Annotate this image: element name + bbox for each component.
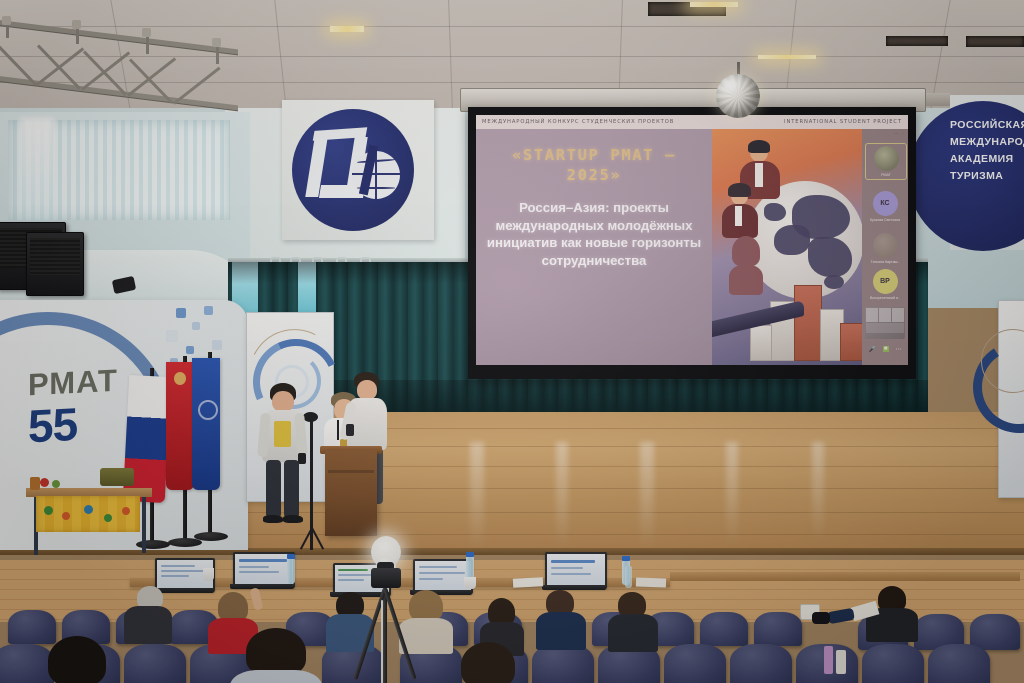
seat[interactable]	[8, 610, 56, 644]
flag-blue-organization	[192, 358, 220, 490]
paper-stack	[636, 577, 666, 587]
tripod-leg	[383, 588, 387, 683]
participant-name: Воскресенский и..	[865, 296, 905, 300]
remote-clicker	[298, 453, 306, 464]
slide-header-ru: МЕЖДУНАРОДНЫЙ КОНКУРС СТУДЕНЧЕСКИХ ПРОЕК…	[482, 119, 674, 125]
bottle-cap	[622, 556, 630, 561]
participant-tile-active[interactable]: РМАТ	[865, 143, 907, 180]
head	[272, 391, 294, 412]
table-leg	[142, 497, 146, 553]
participant-name: Татьяна Карташ..	[865, 260, 905, 264]
souvenir-jar	[30, 477, 40, 490]
seat[interactable]	[0, 644, 54, 683]
ceiling-opening	[966, 36, 1024, 47]
cup	[836, 650, 846, 674]
ceiling-light	[758, 55, 816, 59]
window-controls[interactable]: — ▫	[894, 131, 905, 137]
auditorium-photo: РОССИЙСКАЯ МЕЖДУНАРОДНАЯ АКАДЕМИЯ ТУРИЗМ…	[0, 0, 1024, 683]
flag-emblem	[198, 400, 218, 420]
participant-name: Кускова Светлана	[865, 218, 905, 222]
slide-header: МЕЖДУНАРОДНЫЙ КОНКУРС СТУДЕНЧЕСКИХ ПРОЕК…	[476, 115, 908, 129]
participant-tile[interactable]: КС Кускова Светлана	[865, 191, 905, 222]
camera-tripod	[355, 540, 415, 683]
water-bottle	[287, 558, 295, 584]
seat[interactable]	[700, 612, 748, 646]
disco-ball-glint	[724, 80, 737, 90]
seat[interactable]	[970, 614, 1020, 650]
window-glare	[20, 118, 54, 223]
audience-seating	[0, 588, 1024, 683]
tripod-leg	[383, 587, 416, 680]
camera-body	[371, 568, 401, 588]
seat[interactable]	[124, 644, 186, 683]
jury-table-right	[670, 572, 1020, 581]
seat[interactable]	[928, 644, 990, 683]
academy-line-3: АКАДЕМИЯ	[950, 151, 1024, 168]
lighting-truss	[0, 18, 238, 128]
seat[interactable]	[730, 644, 792, 683]
embroidered-tablecloth	[36, 496, 140, 532]
bottle-cap	[466, 552, 474, 557]
ceiling-opening	[886, 36, 948, 46]
cup	[203, 568, 214, 581]
flag-emblem	[174, 372, 186, 385]
pmat-years: 55	[28, 395, 118, 454]
video-call-sidebar[interactable]: — ▫ РМАТ КС Кускова Светлана Татьяна Кар…	[862, 129, 908, 365]
thermos	[824, 646, 833, 674]
academy-line-1: РОССИЙСКАЯ	[950, 117, 1024, 134]
seat[interactable]	[664, 644, 726, 683]
participant-thumbnail-grid[interactable]	[865, 307, 905, 339]
ceiling-light	[690, 2, 738, 7]
more-icon[interactable]: ⋯	[895, 346, 901, 353]
podium-shelf	[328, 470, 374, 473]
leg	[266, 460, 281, 518]
institute-logo-sign	[282, 100, 434, 240]
shoe	[812, 612, 830, 624]
projected-slide: МЕЖДУНАРОДНЫЙ КОНКУРС СТУДЕНЧЕСКИХ ПРОЕК…	[476, 115, 908, 365]
academy-banner: РОССИЙСКАЯ МЕЖДУНАРОДНАЯ АКАДЕМИЯ ТУРИЗМ…	[950, 95, 1024, 250]
souvenir-item	[52, 480, 60, 488]
logo-circle	[292, 109, 414, 231]
shoe	[283, 515, 303, 523]
slide-illustration	[712, 129, 862, 365]
participant-tile[interactable]: ВР Воскресенский и..	[865, 269, 905, 300]
loudspeaker	[26, 232, 84, 296]
shirt-print	[274, 421, 291, 447]
souvenir-display	[100, 468, 134, 486]
pmat-banner-text: РМАТ 55 лет	[28, 365, 118, 451]
stage-rollup-right	[998, 300, 1024, 498]
mic-icon[interactable]: 🎤	[868, 346, 875, 353]
slide-subtitle: Россия–Азия: проекты международных молод…	[484, 199, 704, 269]
bottle-cap	[287, 554, 295, 559]
seat[interactable]	[754, 612, 802, 646]
illustrated-building	[794, 285, 822, 361]
camera-icon[interactable]: ■	[883, 346, 889, 352]
seat[interactable]	[862, 644, 924, 683]
podium	[325, 450, 377, 536]
academy-line-4: ТУРИЗМА	[950, 168, 1024, 185]
ceiling-light	[330, 26, 364, 32]
participant-avatar: ВР	[873, 269, 898, 294]
participant-avatar: КС	[873, 191, 898, 216]
projection-screen: МЕЖДУНАРОДНЫЙ КОНКУРС СТУДЕНЧЕСКИХ ПРОЕК…	[460, 88, 924, 388]
slide-title: «STARTUP РМАТ – 2025»	[482, 145, 706, 185]
head	[357, 380, 377, 400]
participant-name: РМАТ	[866, 173, 906, 177]
water-bottle	[625, 566, 632, 588]
tripod-cable	[381, 600, 383, 683]
shoe	[263, 515, 283, 523]
phone	[346, 424, 354, 436]
illustrated-building	[750, 325, 772, 361]
slide-header-en: INTERNATIONAL STUDENT PROJECT	[784, 119, 902, 125]
disco-ball	[716, 74, 760, 118]
academy-banner-text: РОССИЙСКАЯ МЕЖДУНАРОДНАЯ АКАДЕМИЯ ТУРИЗМ…	[950, 117, 1024, 185]
call-controls[interactable]: 🎤 ■ ⋯	[865, 343, 905, 355]
participant-tile[interactable]: Татьяна Карташ..	[865, 233, 905, 264]
souvenir-item	[40, 478, 49, 487]
illustrated-building	[840, 323, 862, 361]
paper-stack	[513, 577, 543, 588]
academy-line-2: МЕЖДУНАРОДНАЯ	[950, 134, 1024, 151]
flag-base	[194, 532, 228, 541]
leg	[284, 460, 299, 518]
participant-avatar	[873, 233, 898, 258]
leg	[827, 608, 855, 624]
slide-text-panel: «STARTUP РМАТ – 2025» Россия–Азия: проек…	[476, 129, 712, 365]
participant-avatar	[874, 146, 899, 171]
